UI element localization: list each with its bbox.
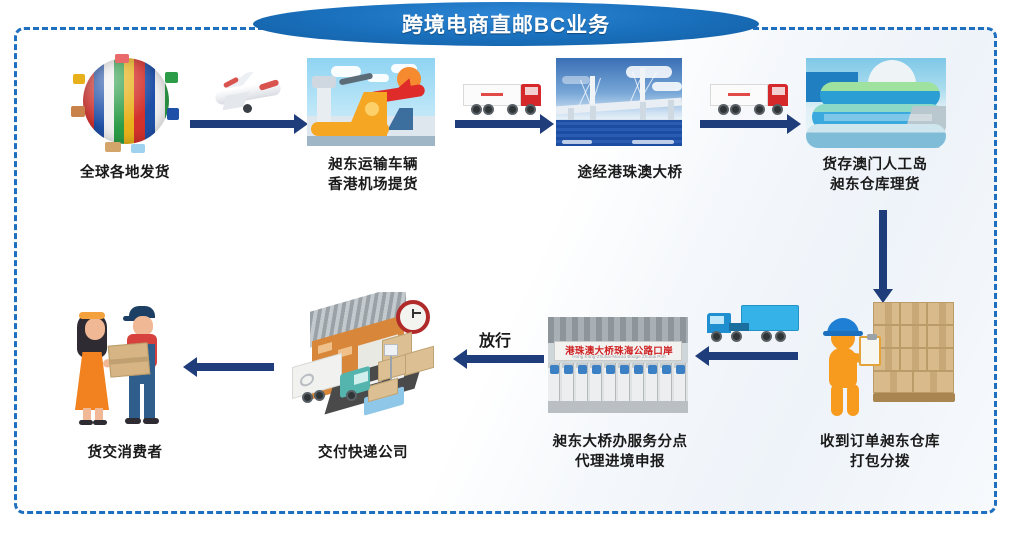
bridge-foam-1 bbox=[562, 140, 592, 144]
globe-parcel-2 bbox=[71, 106, 85, 117]
clipboard-icon bbox=[859, 336, 881, 366]
bridge-cloud-3 bbox=[562, 76, 590, 84]
white-truck-icon bbox=[463, 82, 545, 116]
worker-leg-right bbox=[847, 384, 859, 416]
artificial-island-building-photo bbox=[806, 58, 946, 148]
booth-3 bbox=[578, 365, 587, 374]
booth-10 bbox=[676, 365, 685, 374]
parcel-tape bbox=[110, 356, 148, 364]
carton-tape-9 bbox=[939, 349, 946, 370]
consumer-shoe-2 bbox=[93, 420, 107, 425]
hard-hat-brim bbox=[823, 331, 863, 336]
globe-parcel-3 bbox=[165, 72, 178, 83]
carton-5 bbox=[900, 325, 927, 348]
bridge-foam-2 bbox=[632, 140, 674, 144]
island-glass-strip bbox=[824, 114, 932, 121]
carton-9 bbox=[927, 348, 954, 371]
consumer-headband bbox=[79, 312, 105, 319]
van-wheel-2 bbox=[314, 390, 325, 401]
truck-logo bbox=[481, 93, 503, 96]
node-label-hzmb-bridge: 途经港珠澳大桥 bbox=[545, 163, 715, 183]
node-label-hk-airport-pickup: 昶东运输车辆 香港机场提货 bbox=[290, 155, 456, 195]
booth-4 bbox=[592, 365, 601, 374]
blue-truck-wheel-2 bbox=[731, 331, 742, 342]
cable-stayed-bridge-photo bbox=[556, 58, 682, 146]
bridge-cloud-2 bbox=[652, 82, 682, 91]
blue-truck-icon bbox=[705, 305, 801, 345]
courier-shoe-2 bbox=[143, 418, 159, 424]
carton-8 bbox=[900, 348, 927, 371]
carton-tape-3 bbox=[939, 303, 946, 324]
carton-1 bbox=[873, 302, 900, 325]
node-label-bridge-customs-declaration: 昶东大桥办服务分点 代理进境申报 bbox=[525, 432, 715, 472]
globe-parcel-5 bbox=[105, 142, 121, 152]
node-label-deliver-consumer: 货交消费者 bbox=[45, 443, 205, 463]
carton-11 bbox=[913, 371, 954, 393]
carton-tape-10 bbox=[890, 372, 897, 392]
truck-windshield bbox=[525, 87, 538, 95]
truck-wheel-4 bbox=[525, 104, 536, 115]
port-terminal-building bbox=[548, 317, 688, 343]
courier-handing-parcel-icon bbox=[63, 296, 183, 426]
truck2-wheel-3 bbox=[754, 104, 765, 115]
booth-8 bbox=[648, 365, 657, 374]
truck2-wheel-2 bbox=[730, 104, 741, 115]
arrow-head-1 bbox=[294, 114, 308, 134]
terminal-apron bbox=[307, 136, 435, 146]
truck-wheel-3 bbox=[507, 104, 518, 115]
carton-2 bbox=[900, 302, 927, 325]
carton-tape-7 bbox=[885, 349, 892, 370]
carton-pallet-stack bbox=[873, 302, 955, 402]
arrow-right-1 bbox=[190, 120, 295, 128]
booth-1 bbox=[550, 365, 559, 374]
arrow-down-1 bbox=[879, 210, 887, 290]
globe-parcel-4 bbox=[167, 108, 179, 120]
arrow-head-left-3 bbox=[183, 357, 197, 377]
arrow-head-2 bbox=[540, 114, 554, 134]
worker-leg-left bbox=[831, 384, 843, 416]
clipboard-clip bbox=[867, 334, 877, 340]
diagram-canvas: 跨境电商直邮BC业务 全球各地发货 bbox=[0, 0, 1011, 534]
island-tier-3 bbox=[806, 124, 946, 148]
carton-tape-6 bbox=[939, 326, 946, 347]
title-banner: 跨境电商直邮BC业务 bbox=[253, 2, 759, 46]
node-label-order-packing: 收到订单昶东仓库 打包分拨 bbox=[790, 432, 970, 472]
arrow-left-2 bbox=[466, 355, 544, 363]
courier-leg-2 bbox=[144, 382, 155, 420]
courier-face bbox=[133, 316, 153, 336]
blue-truck-windshield bbox=[710, 316, 724, 324]
courier-leg-1 bbox=[129, 382, 140, 420]
van-wheel-3 bbox=[346, 390, 357, 401]
van-wheel-1 bbox=[302, 392, 313, 403]
truck2-wheel-1 bbox=[718, 104, 729, 115]
orange-aircraft-fuselage bbox=[311, 122, 389, 136]
arrow-head-left-1 bbox=[695, 346, 709, 366]
port-signboard: 港珠澳大桥珠海公路口岸 Hong Kong-Zhuhai-Macao Bridg… bbox=[554, 341, 682, 361]
carton-tape-11 bbox=[930, 372, 937, 392]
truck-wheel-1 bbox=[471, 104, 482, 115]
blue-truck-wheel-3 bbox=[761, 331, 772, 342]
carton-3 bbox=[927, 302, 954, 325]
plane-engine bbox=[243, 104, 252, 113]
blue-truck-chassis bbox=[729, 323, 749, 331]
blue-truck-wheel-1 bbox=[711, 331, 722, 342]
arrow-left-1 bbox=[708, 352, 798, 360]
page-title: 跨境电商直邮BC业务 bbox=[253, 2, 759, 46]
warehouse-boxes bbox=[374, 336, 436, 382]
zhuhai-port-customs-photo: 港珠澳大桥珠海公路口岸 Hong Kong-Zhuhai-Macao Bridg… bbox=[548, 317, 688, 413]
globe-parcel-7 bbox=[115, 54, 129, 63]
arrow-right-3 bbox=[700, 120, 788, 128]
node-label-global-shipping: 全球各地发货 bbox=[35, 163, 215, 183]
wooden-pallet bbox=[873, 393, 955, 402]
clock-hand-minute bbox=[413, 312, 421, 314]
consumer-shoe-1 bbox=[79, 420, 93, 425]
truck2-windshield bbox=[772, 87, 785, 95]
consumer-face bbox=[85, 318, 105, 340]
globe-parcel-6 bbox=[131, 144, 145, 153]
white-truck-icon-2 bbox=[710, 82, 792, 116]
airplane-icon bbox=[205, 68, 291, 120]
globe-parcel-1 bbox=[73, 74, 85, 84]
globe-of-flags-icon bbox=[71, 54, 179, 154]
carton-tape-5 bbox=[912, 326, 919, 347]
node-label-macau-island-warehouse: 货存澳门人工岛 昶东仓库理货 bbox=[790, 155, 960, 195]
carton-tape-1 bbox=[885, 303, 892, 324]
control-tower-cab bbox=[312, 76, 336, 88]
carton-tape-2 bbox=[912, 303, 919, 324]
bridge-deck bbox=[556, 98, 682, 115]
airline-logo-dot bbox=[365, 102, 379, 116]
arrow-label-release: 放行 bbox=[479, 327, 511, 351]
truck-wheel-2 bbox=[483, 104, 494, 115]
blue-truck-wheel-4 bbox=[775, 331, 786, 342]
courier-shoe-1 bbox=[125, 418, 141, 424]
globe-sphere bbox=[83, 58, 169, 144]
arrow-right-2 bbox=[455, 120, 541, 128]
arrow-head-3 bbox=[787, 114, 801, 134]
warehouse-worker-cartons-icon bbox=[815, 292, 955, 422]
port-ground bbox=[548, 401, 688, 413]
booth-7 bbox=[634, 365, 643, 374]
booth-9 bbox=[662, 365, 671, 374]
node-label-handover-courier: 交付快递公司 bbox=[278, 443, 448, 463]
booth-6 bbox=[620, 365, 629, 374]
parcel-box bbox=[108, 342, 151, 377]
port-sign-english: Hong Kong-Zhuhai-Macao Bridge Zhuhai Por… bbox=[555, 354, 683, 359]
carton-tape-8 bbox=[912, 349, 919, 370]
scale-display bbox=[384, 344, 398, 356]
booth-2 bbox=[564, 365, 573, 374]
airport-photo bbox=[307, 58, 435, 146]
clock-icon bbox=[396, 300, 430, 334]
truck2-logo bbox=[728, 93, 750, 96]
booth-5 bbox=[606, 365, 615, 374]
truck2-wheel-4 bbox=[772, 104, 783, 115]
blue-truck-container bbox=[741, 305, 799, 331]
delivery-van bbox=[292, 360, 378, 406]
carton-10 bbox=[873, 371, 913, 393]
carton-tape-4 bbox=[885, 326, 892, 347]
carton-6 bbox=[927, 325, 954, 348]
worker-figure bbox=[819, 316, 875, 416]
arrow-head-left-2 bbox=[453, 349, 467, 369]
arrow-left-3 bbox=[196, 363, 274, 371]
isometric-warehouse-van-icon bbox=[286, 292, 436, 422]
